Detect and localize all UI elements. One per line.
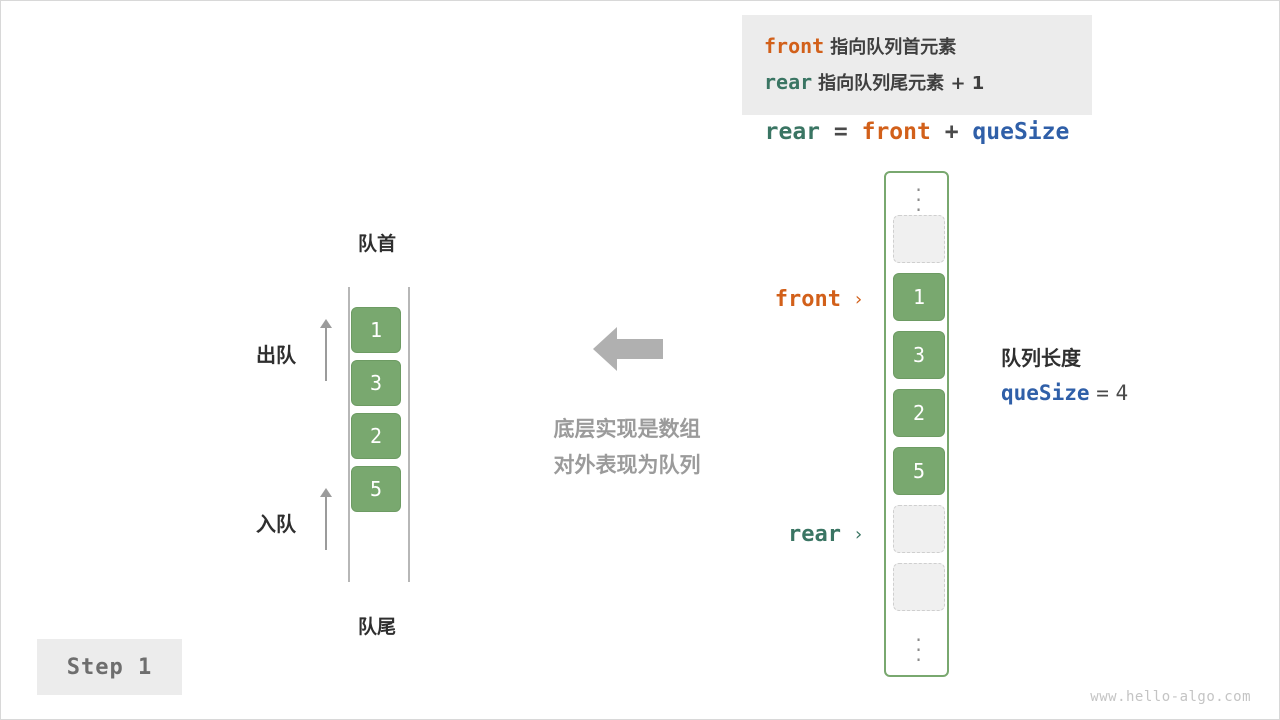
queue-guide-line-left <box>348 287 350 582</box>
enqueue-label: 入队 <box>256 508 296 537</box>
array-cell: 1 <box>893 273 945 321</box>
queue-cell: 3 <box>351 360 401 406</box>
array-cell: 5 <box>893 447 945 495</box>
watermark: www.hello-algo.com <box>1090 689 1251 705</box>
front-keyword: front <box>764 34 824 58</box>
legend-front-line: front指向队列首元素 <box>764 29 1092 65</box>
quesize-equals: = <box>1096 381 1109 405</box>
formula-rear: rear <box>765 119 820 145</box>
step-badge: Step 1 <box>37 639 182 695</box>
queue-cell: 2 <box>351 413 401 459</box>
formula-equals: = <box>834 119 848 145</box>
queue-cell: 1 <box>351 307 401 353</box>
array-ellipsis-bottom: ··· <box>886 635 951 665</box>
queue-head-label: 队首 <box>347 229 407 256</box>
dequeue-arrow-up-icon <box>319 319 333 381</box>
array-ellipsis-top: ··· <box>886 185 951 215</box>
queue-guide-line-right <box>408 287 410 582</box>
queue-size-title: 队列长度 <box>1001 343 1241 373</box>
middle-caption: 底层实现是数组 对外表现为队列 <box>501 411 753 483</box>
formula-plus: + <box>945 119 959 145</box>
front-pointer-arrow-icon: › <box>853 289 864 310</box>
caption-line-1: 底层实现是数组 <box>501 411 753 447</box>
legend-box: front指向队列首元素 rear指向队列尾元素 + 1 <box>742 15 1092 115</box>
array-cell: 2 <box>893 389 945 437</box>
caption-line-2: 对外表现为队列 <box>501 447 753 483</box>
array-cell <box>893 563 945 611</box>
rear-pointer-label: rear <box>701 522 841 547</box>
dequeue-label: 出队 <box>256 339 296 368</box>
formula-line: rear = front + queSize <box>742 119 1092 145</box>
front-description: 指向队列首元素 <box>830 37 956 58</box>
quesize-value: 4 <box>1116 381 1129 405</box>
queue-size-expression: queSize = 4 <box>1001 373 1241 413</box>
array-cell <box>893 215 945 263</box>
legend-rear-line: rear指向队列尾元素 + 1 <box>764 65 1092 101</box>
array-container: ··· 1 3 2 5 ··· <box>884 171 949 677</box>
array-cell <box>893 505 945 553</box>
queue-cell: 5 <box>351 466 401 512</box>
enqueue-arrow-up-icon <box>319 488 333 550</box>
queue-tail-label: 队尾 <box>347 612 407 639</box>
rear-pointer-arrow-icon: › <box>853 524 864 545</box>
rear-description: 指向队列尾元素 + 1 <box>818 73 984 94</box>
formula-front: front <box>862 119 931 145</box>
left-arrow-icon <box>593 323 663 375</box>
front-pointer-label: front <box>701 287 841 312</box>
array-cell: 3 <box>893 331 945 379</box>
quesize-name: queSize <box>1001 381 1090 405</box>
diagram-canvas: front指向队列首元素 rear指向队列尾元素 + 1 rear = fron… <box>0 0 1280 720</box>
rear-keyword: rear <box>764 70 812 94</box>
queue-size-block: 队列长度 queSize = 4 <box>1001 343 1241 413</box>
formula-quesize: queSize <box>972 119 1069 145</box>
